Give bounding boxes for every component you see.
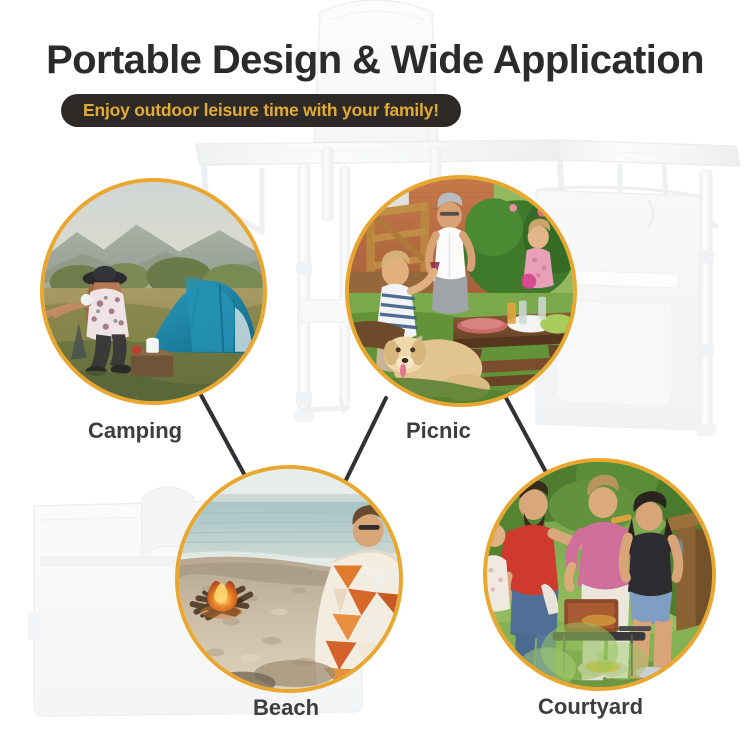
picnic-photo: [349, 179, 573, 403]
scene-circle-beach[interactable]: [175, 465, 403, 693]
scene-label-picnic: Picnic: [406, 418, 471, 444]
subtitle-banner: Enjoy outdoor leisure time with your fam…: [61, 94, 461, 127]
scene-circle-camping[interactable]: [40, 178, 267, 405]
beach-photo: [179, 469, 399, 689]
page-title: Portable Design & Wide Application: [0, 38, 750, 83]
promo-poster: Portable Design & Wide Application Enjoy…: [0, 0, 750, 750]
scene-label-camping: Camping: [88, 418, 182, 444]
subtitle-text: Enjoy outdoor leisure time with your fam…: [83, 100, 439, 121]
scene-circle-courtyard[interactable]: [483, 458, 716, 691]
camping-photo: [44, 182, 263, 401]
courtyard-photo: [487, 462, 712, 687]
scene-label-courtyard: Courtyard: [538, 694, 643, 720]
scene-label-beach: Beach: [253, 695, 319, 721]
scene-circle-picnic[interactable]: [345, 175, 577, 407]
